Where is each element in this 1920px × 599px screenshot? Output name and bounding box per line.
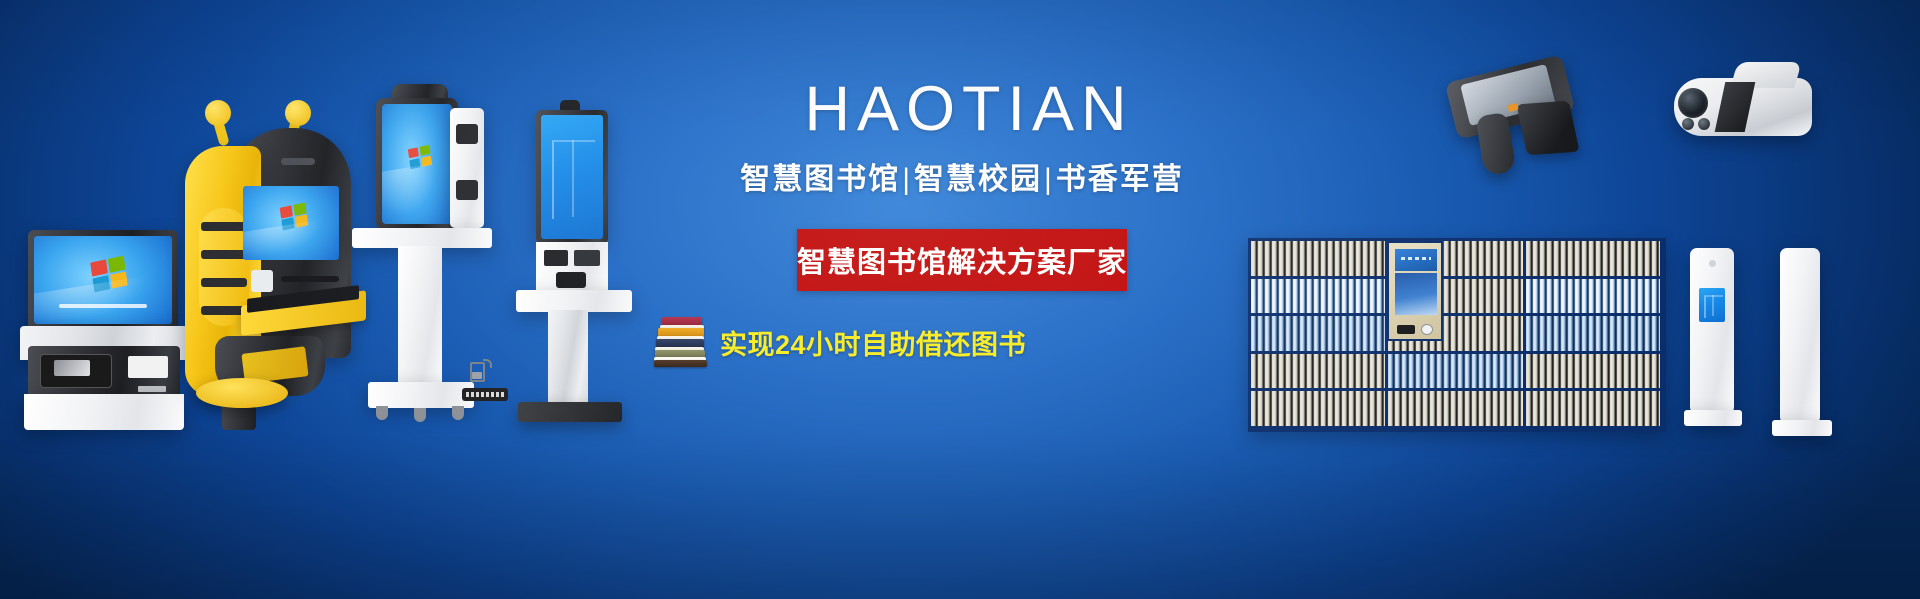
shelf-cell[interactable] xyxy=(1388,391,1525,426)
subtitle-part-3: 书香军营 xyxy=(1056,163,1184,196)
gate-right-panel xyxy=(1780,248,1820,424)
rfid-card-icon xyxy=(468,358,494,384)
bee-kiosk-screen[interactable] xyxy=(243,186,339,260)
vertical-kiosk-base xyxy=(518,402,622,422)
bookshelf-scan-button[interactable] xyxy=(1421,324,1433,335)
stripe-1 xyxy=(201,222,247,231)
shelf-row xyxy=(1251,316,1663,354)
bookshelf-card-slot xyxy=(1397,325,1415,334)
shelf-row xyxy=(1251,354,1663,392)
caster-wheel-mid xyxy=(414,408,426,422)
smart-bookshelf-cabinet xyxy=(1248,238,1666,432)
stripe-2 xyxy=(201,250,247,259)
fr-kiosk-tabletop xyxy=(352,228,492,248)
security-surveillance-camera xyxy=(1660,60,1840,170)
shelf-cell[interactable] xyxy=(1251,354,1388,389)
banner-subtitle: 智慧图书馆|智慧校园|书香军营 xyxy=(612,163,1312,196)
caster-wheel-left xyxy=(376,406,388,420)
subtitle-separator-2: | xyxy=(1042,163,1056,196)
camera-lens xyxy=(1678,88,1708,118)
camera-ir-led-right xyxy=(1698,118,1710,130)
book-stack-icon xyxy=(654,317,708,367)
antenna-right-ball xyxy=(285,100,311,126)
bookshelf-control-panel xyxy=(1387,241,1443,341)
shelf-cell[interactable] xyxy=(1251,316,1388,351)
solution-highlight-box: 智慧图书馆解决方案厂家 xyxy=(797,229,1127,291)
gate-right-base xyxy=(1772,420,1832,436)
brand-title: HAOTIAN xyxy=(612,78,1312,141)
speaker-slot xyxy=(281,158,315,165)
bookshelf-touch-screen[interactable] xyxy=(1395,273,1437,315)
rfid-security-gate-right xyxy=(1780,248,1836,446)
vertical-kiosk-post xyxy=(548,310,588,408)
shelf-cell[interactable] xyxy=(1526,279,1663,314)
book-slot xyxy=(281,276,339,282)
handheld-rfid-reader xyxy=(1440,58,1620,188)
antenna-left-ball xyxy=(205,100,231,126)
shelf-cell[interactable] xyxy=(1526,391,1663,426)
rfid-antenna-module xyxy=(1516,101,1579,156)
card-scan-pad[interactable] xyxy=(251,270,273,292)
shelf-row xyxy=(1251,279,1663,317)
solution-highlight-text: 智慧图书馆解决方案厂家 xyxy=(797,239,1127,281)
rfid-kiosk-label xyxy=(462,388,508,401)
shelf-cell[interactable] xyxy=(1526,354,1663,389)
subtitle-part-1: 智慧图书馆 xyxy=(740,163,900,196)
vertical-kiosk-screen[interactable] xyxy=(541,115,603,239)
caster-wheel-right xyxy=(452,406,464,420)
shelf-cell[interactable] xyxy=(1251,279,1388,314)
fingerprint-reader[interactable] xyxy=(556,272,586,288)
fr-kiosk-base xyxy=(368,382,474,408)
rfid-pad[interactable] xyxy=(574,250,600,266)
fr-reader-window-bottom xyxy=(456,180,478,200)
bookshelf-info-display[interactable] xyxy=(1395,249,1437,271)
shelf-row xyxy=(1251,241,1663,279)
fr-kiosk-stand xyxy=(398,246,442,386)
subtitle-separator-1: | xyxy=(900,163,914,196)
shelf-row xyxy=(1251,391,1663,429)
kiosk-card-reader-panel xyxy=(28,346,180,398)
fr-screen[interactable] xyxy=(382,104,452,224)
gate-left-indicator xyxy=(1709,260,1716,267)
gate-left-base xyxy=(1684,410,1742,426)
gate-left-display[interactable] xyxy=(1699,288,1725,322)
id-scan-window xyxy=(544,250,568,266)
bee-shaped-book-return-kiosk xyxy=(185,100,375,400)
camera-ir-led-left xyxy=(1682,118,1694,130)
tagline-text: 实现24小时自助借还图书 xyxy=(720,323,1026,362)
gate-left-panel xyxy=(1690,248,1734,414)
shelf-cell[interactable] xyxy=(1526,241,1663,276)
shelf-cell[interactable] xyxy=(1526,316,1663,351)
fr-reader-window-top xyxy=(456,124,478,144)
stripe-3 xyxy=(201,278,247,287)
product-banner: HAOTIAN 智慧图书馆|智慧校园|书香军营 智慧图书馆解决方案厂家 实现24… xyxy=(0,0,1920,599)
kiosk-screen[interactable] xyxy=(34,236,172,324)
bee-kiosk-round-base xyxy=(196,378,288,408)
tagline-row: 实现24小时自助借还图书 xyxy=(612,317,1312,367)
rfid-security-gate-left xyxy=(1690,248,1746,438)
banner-text-block: HAOTIAN 智慧图书馆|智慧校园|书香军营 智慧图书馆解决方案厂家 实现24… xyxy=(612,78,1312,367)
shelf-cell[interactable] xyxy=(1388,354,1525,389)
shelf-cell[interactable] xyxy=(1251,391,1388,426)
subtitle-part-2: 智慧校园 xyxy=(914,163,1042,196)
shelf-cell[interactable] xyxy=(1251,241,1388,276)
kiosk-pedestal xyxy=(24,394,184,430)
